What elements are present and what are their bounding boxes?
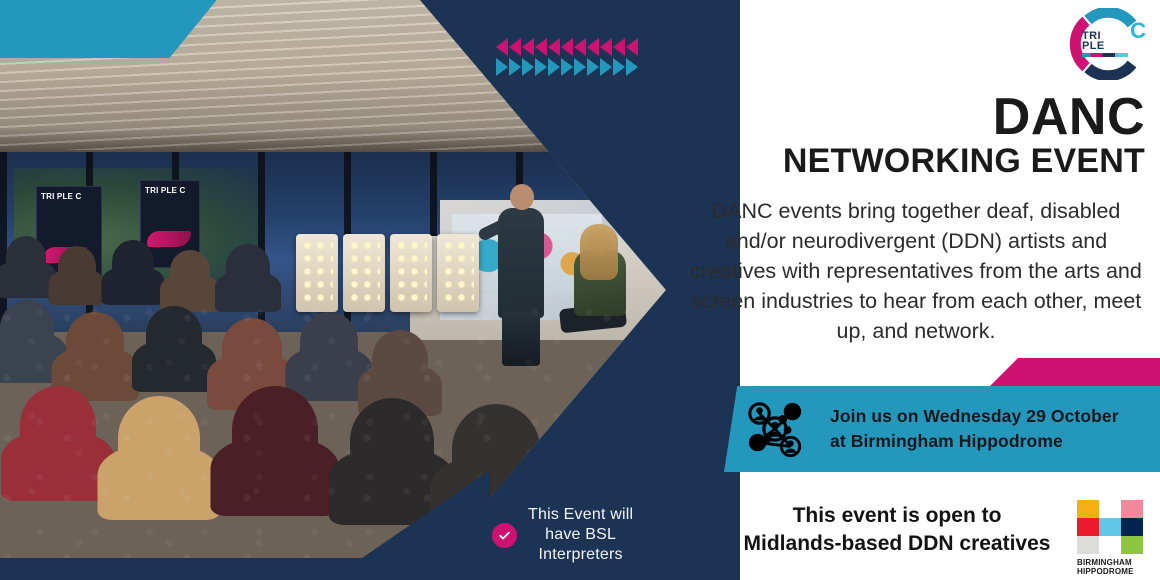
page-title: DANC NETWORKING EVENT (690, 92, 1145, 180)
photo-banner-2-swoosh (147, 231, 191, 247)
triangle-left-icon (509, 38, 521, 56)
photo-speaker-head (510, 184, 534, 210)
hippodrome-square-grid (1077, 500, 1145, 554)
magenta-accent-strip (990, 358, 1160, 386)
check-circle-icon (492, 523, 517, 548)
triangle-left-icon (600, 38, 612, 56)
arrow-row-magenta (496, 38, 638, 56)
photo-audience-member (6, 236, 46, 278)
banner-line-date: Join us on Wednesday 29 October (830, 404, 1119, 429)
triangle-left-icon (613, 38, 625, 56)
triangle-right-icon (613, 58, 625, 76)
triangle-right-icon (535, 58, 547, 76)
photo-panellist-hair (580, 224, 618, 280)
photo-audience-member (112, 240, 154, 284)
hippo-square (1121, 500, 1143, 518)
bsl-line-1: This Event will (528, 506, 633, 523)
bsl-text-block: This Event will have BSL Interpreters (528, 505, 633, 565)
hippo-square (1121, 536, 1143, 554)
network-people-icon (744, 398, 806, 460)
hippodrome-line-1: BIRMINGHAM (1077, 558, 1145, 567)
navy-bottom-strip (0, 558, 470, 580)
hippo-square (1121, 518, 1143, 536)
hippo-square (1099, 518, 1121, 536)
photo-audience-member (560, 392, 640, 474)
triangle-right-icon (587, 58, 599, 76)
triangle-right-icon (561, 58, 573, 76)
bsl-line-2: have BSL (545, 526, 616, 543)
triple-c-line2: PLE (1082, 41, 1136, 51)
birmingham-hippodrome-logo: BIRMINGHAM HIPPODROME (1077, 500, 1145, 574)
triple-c-big-c: C (1130, 20, 1146, 42)
photo-audience-member (170, 250, 210, 292)
triangle-right-icon (574, 58, 586, 76)
arrow-row-teal (496, 58, 638, 76)
chevron-arrows-decoration (496, 38, 638, 76)
photo-banner-1-text: TRI PLE C (41, 193, 97, 201)
triangle-left-icon (496, 38, 508, 56)
photo-audience-member (226, 244, 270, 290)
triple-c-logo: TRI PLE C (1068, 8, 1144, 80)
photo-audience-member (58, 246, 96, 286)
triangle-left-icon (548, 38, 560, 56)
triple-c-colorbar (1082, 53, 1128, 57)
eligibility-statement: This event is open to Midlands-based DDN… (722, 502, 1072, 558)
banner-text-block: Join us on Wednesday 29 October at Birmi… (830, 404, 1119, 454)
triangle-right-icon (600, 58, 612, 76)
triangle-right-icon (548, 58, 560, 76)
triangle-left-icon (561, 38, 573, 56)
hippo-square (1077, 518, 1099, 536)
triangle-left-icon (626, 38, 638, 56)
triangle-left-icon (522, 38, 534, 56)
date-location-banner: Join us on Wednesday 29 October at Birmi… (724, 386, 1160, 472)
body-paragraph: DANC events bring together deaf, disable… (682, 196, 1150, 346)
poster-canvas: TRI PLE C TRI PLE C (0, 0, 1160, 580)
hippo-square (1077, 536, 1099, 554)
hippo-square (1099, 500, 1121, 518)
photo-banner-2-text: TRI PLE C (145, 187, 195, 195)
bsl-interpreters-badge: This Event will have BSL Interpreters (492, 505, 633, 565)
banner-line-venue: at Birmingham Hippodrome (830, 429, 1119, 454)
triangle-right-icon (522, 58, 534, 76)
photo-scene: TRI PLE C TRI PLE C (0, 0, 700, 580)
triangle-right-icon (496, 58, 508, 76)
hippo-square (1099, 536, 1121, 554)
triangle-right-icon (509, 58, 521, 76)
hippo-square (1077, 500, 1099, 518)
triangle-left-icon (535, 38, 547, 56)
triangle-left-icon (587, 38, 599, 56)
open-to-line-1: This event is open to (722, 502, 1072, 530)
open-to-line-2: Midlands-based DDN creatives (722, 530, 1072, 558)
danc-event-audience-photo: TRI PLE C TRI PLE C (0, 0, 700, 580)
hippodrome-line-2: HIPPODROME (1077, 567, 1145, 576)
triple-c-wordmark: TRI PLE (1082, 26, 1136, 62)
headline-danc: DANC (690, 92, 1145, 142)
triangle-right-icon (626, 58, 638, 76)
triangle-left-icon (574, 38, 586, 56)
check-glyph (497, 528, 512, 543)
hippodrome-wordmark: BIRMINGHAM HIPPODROME (1077, 558, 1145, 576)
headline-networking-event: NETWORKING EVENT (690, 142, 1145, 180)
bsl-line-3: Interpreters (539, 546, 623, 563)
